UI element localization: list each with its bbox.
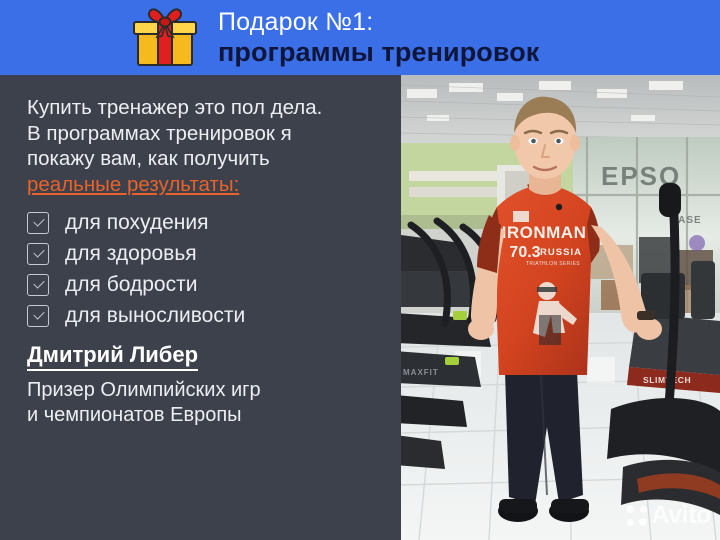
intro-line-3: покажу вам, как получить <box>27 146 401 172</box>
gift-icon <box>130 7 200 69</box>
svg-text:RUSSIA: RUSSIA <box>540 247 582 258</box>
header-title-line2: программы тренировок <box>218 36 539 68</box>
svg-text:70.3: 70.3 <box>509 244 540 261</box>
checkbox-checked-icon <box>27 243 49 265</box>
list-item-label: для здоровья <box>65 242 197 266</box>
trainer-photo: EPSO LASE <box>401 75 720 540</box>
intro-line-2: В программах тренировок я <box>27 121 401 147</box>
header-title-line1: Подарок №1: <box>218 8 539 36</box>
checkbox-checked-icon <box>27 274 49 296</box>
list-item: для похудения <box>27 211 401 235</box>
header-text-block: Подарок №1: программы тренировок <box>218 8 539 68</box>
svg-text:MAXFIT: MAXFIT <box>403 368 439 377</box>
intro-highlight: реальные результаты: <box>27 172 401 198</box>
list-item-label: для бодрости <box>65 273 197 297</box>
author-name: Дмитрий Либер <box>27 342 198 371</box>
author-block: Дмитрий Либер Призер Олимпийских игр и ч… <box>27 342 401 428</box>
svg-text:IRONMAN: IRONMAN <box>502 223 587 242</box>
checkbox-checked-icon <box>27 305 49 327</box>
promo-card: Подарок №1: программы тренировок Купить … <box>0 0 720 540</box>
list-item: для выносливости <box>27 304 401 328</box>
header-banner: Подарок №1: программы тренировок <box>0 0 720 75</box>
list-item: для здоровья <box>27 242 401 266</box>
intro-line-1: Купить тренажер это пол дела. <box>27 95 401 121</box>
benefits-checklist: для похудения для здоровья для бодрости … <box>27 211 401 328</box>
list-item-label: для выносливости <box>65 304 245 328</box>
author-credential-line1: Призер Олимпийских игр <box>27 378 401 403</box>
list-item-label: для похудения <box>65 211 208 235</box>
checkbox-checked-icon <box>27 212 49 234</box>
author-credential-line2: и чемпионатов Европы <box>27 403 401 428</box>
intro-text: Купить тренажер это пол дела. В программ… <box>27 95 401 197</box>
info-panel: Купить тренажер это пол дела. В программ… <box>0 75 401 540</box>
list-item: для бодрости <box>27 273 401 297</box>
svg-text:TRIATHLON SERIES: TRIATHLON SERIES <box>526 261 580 267</box>
